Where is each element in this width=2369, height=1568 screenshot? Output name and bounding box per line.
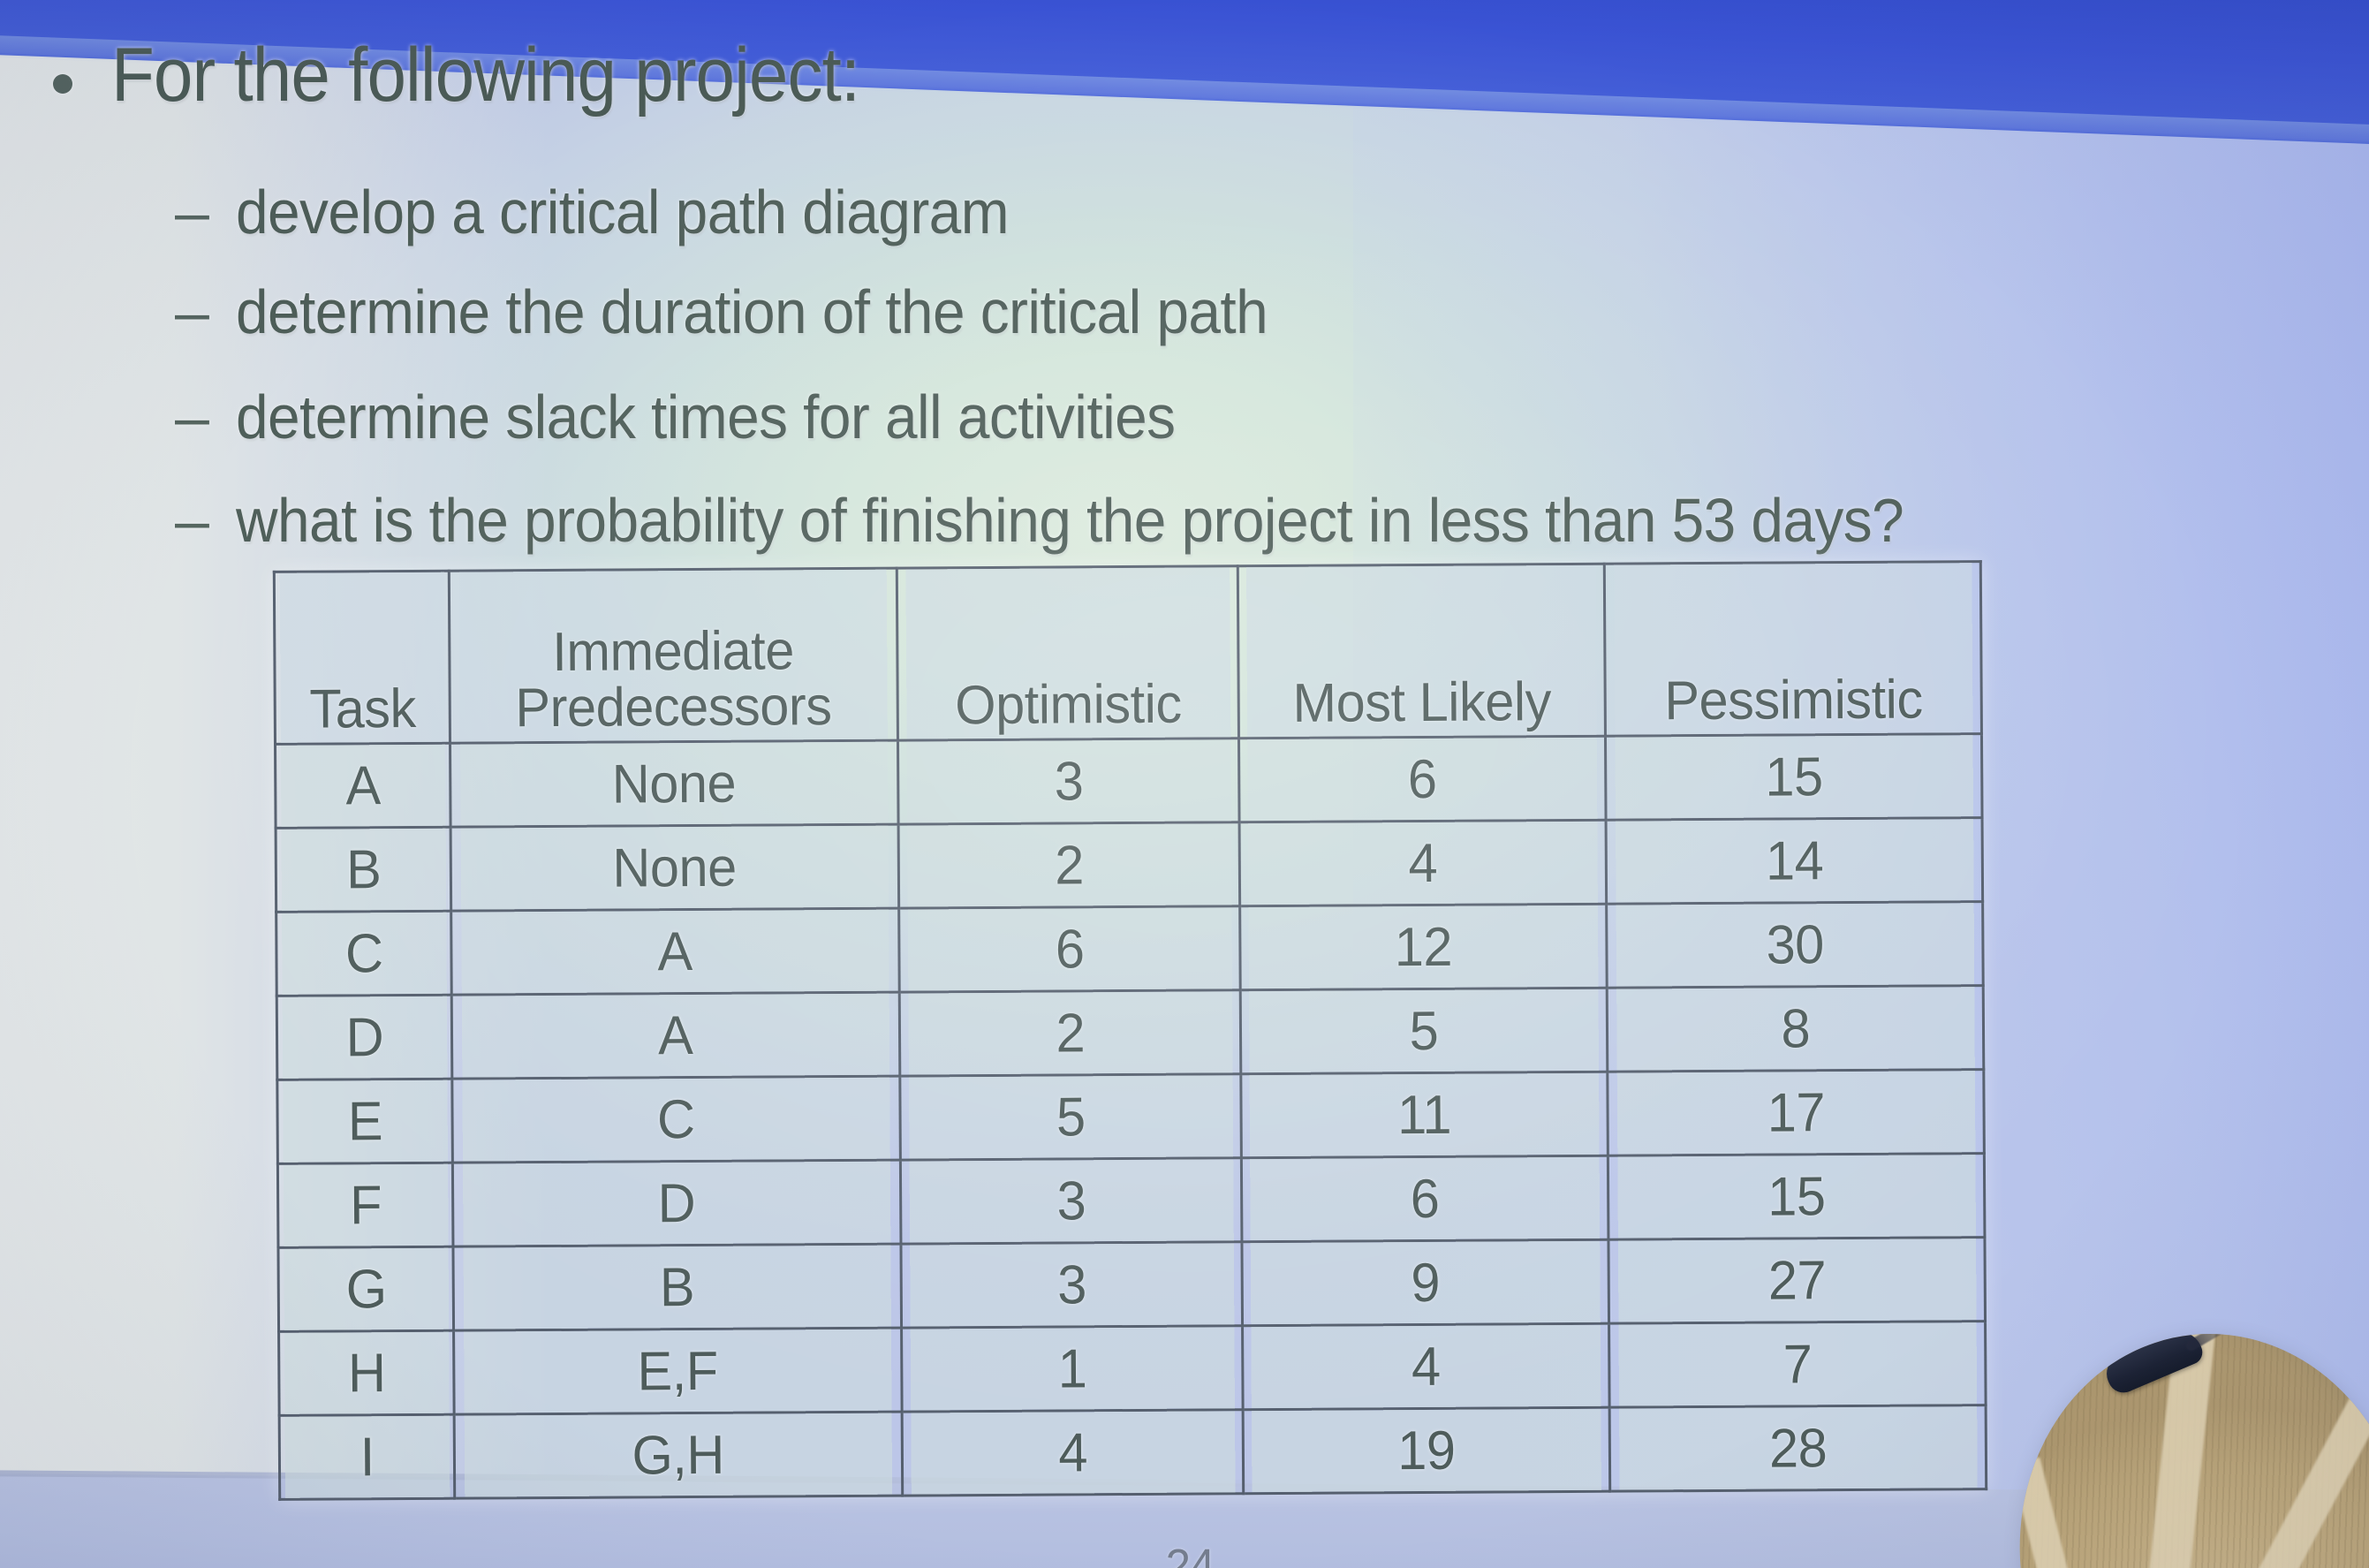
cell-predecessors: D xyxy=(461,1160,892,1246)
cell-pessimistic: 8 xyxy=(1615,986,1976,1072)
table-row: GB3927 xyxy=(278,1238,1986,1332)
table-row: HE,F147 xyxy=(279,1322,1987,1416)
cell-task: I xyxy=(283,1414,450,1499)
cell-pessimistic: 14 xyxy=(1614,818,1975,904)
col-header-predecessors: Immediate Predecessors xyxy=(458,568,889,743)
slide-photo: For the following project: – develop a c… xyxy=(0,0,2369,1568)
cell-predecessors: A xyxy=(460,992,891,1079)
cell-task: F xyxy=(281,1163,449,1247)
sub-bullet-label-3: determine slack times for all activities xyxy=(236,386,1176,448)
table-row: IG,H41928 xyxy=(279,1405,1987,1500)
cell-optimistic: 3 xyxy=(908,1242,1236,1328)
cell-pessimistic: 7 xyxy=(1617,1322,1979,1407)
cell-most-likely: 4 xyxy=(1246,820,1600,905)
table-row: EC51117 xyxy=(277,1070,1985,1164)
main-bullet-item: For the following project: xyxy=(53,37,916,113)
bullet-dot-icon xyxy=(53,74,72,94)
table-header: Task Immediate Predecessors Optimistic M… xyxy=(274,562,1981,745)
sub-bullet-label-4: what is the probability of finishing the… xyxy=(236,489,1904,551)
cell-task: H xyxy=(283,1330,450,1415)
table-row: DA258 xyxy=(276,986,1984,1080)
table-row: CA61230 xyxy=(276,902,1984,996)
cell-pessimistic: 15 xyxy=(1613,734,1974,820)
cell-most-likely: 5 xyxy=(1247,988,1601,1073)
col-header-task-label: Task xyxy=(279,680,444,737)
dash-marker-icon: – xyxy=(175,281,209,343)
cell-most-likely: 19 xyxy=(1250,1407,1603,1493)
sub-bullet-label-2: determine the duration of the critical p… xyxy=(236,281,1268,343)
col-header-most-likely-label: Most Likely xyxy=(1246,674,1597,732)
cell-optimistic: 2 xyxy=(906,990,1234,1076)
cell-predecessors: None xyxy=(459,824,890,911)
table-header-row: Task Immediate Predecessors Optimistic M… xyxy=(274,562,1981,745)
cell-optimistic: 4 xyxy=(909,1410,1237,1496)
dash-marker-icon: – xyxy=(175,386,209,448)
cell-task: G xyxy=(282,1246,450,1331)
cell-optimistic: 3 xyxy=(904,739,1232,824)
cell-task: D xyxy=(280,995,448,1079)
cell-optimistic: 1 xyxy=(908,1326,1236,1412)
project-activity-table: Task Immediate Predecessors Optimistic M… xyxy=(273,560,1987,1501)
cell-pessimistic: 27 xyxy=(1616,1238,1978,1323)
cell-predecessors: B xyxy=(462,1244,893,1330)
col-header-pessimistic-label: Pessimistic xyxy=(1614,671,1972,730)
sub-bullet-item-1: – develop a critical path diagram xyxy=(175,181,1058,243)
table-row: BNone2414 xyxy=(276,818,1983,913)
col-header-most-likely: Most Likely xyxy=(1245,564,1598,738)
cell-task: A xyxy=(278,743,446,828)
cell-most-likely: 11 xyxy=(1248,1072,1601,1157)
slide-page-number: 24 xyxy=(1165,1539,1214,1568)
cell-pessimistic: 15 xyxy=(1616,1154,1977,1239)
cell-task: C xyxy=(280,911,448,996)
sub-bullet-item-3: – determine slack times for all activiti… xyxy=(175,386,1235,448)
cell-pessimistic: 30 xyxy=(1615,902,1976,988)
sub-bullet-item-2: – determine the duration of the critical… xyxy=(175,281,1334,343)
col-header-predecessors-line2: Predecessors xyxy=(459,678,888,736)
dash-marker-icon: – xyxy=(175,489,209,551)
cell-most-likely: 6 xyxy=(1245,736,1599,822)
cell-predecessors: E,F xyxy=(462,1328,893,1414)
col-header-predecessors-line1: Immediate xyxy=(459,622,888,680)
cell-optimistic: 2 xyxy=(905,822,1233,908)
cell-predecessors: G,H xyxy=(463,1412,894,1498)
col-header-optimistic-label: Optimistic xyxy=(905,676,1230,733)
cell-task: E xyxy=(281,1079,449,1163)
sub-bullet-label-1: develop a critical path diagram xyxy=(236,181,1009,243)
main-bullet-label: For the following project: xyxy=(111,37,859,113)
cell-most-likely: 12 xyxy=(1247,904,1601,989)
cell-optimistic: 6 xyxy=(905,906,1233,992)
cell-predecessors: A xyxy=(459,908,890,995)
cell-optimistic: 3 xyxy=(907,1158,1235,1244)
person-hat xyxy=(1998,1314,2369,1568)
col-header-pessimistic: Pessimistic xyxy=(1612,562,1974,736)
table-row: FD3615 xyxy=(277,1154,1985,1248)
cell-pessimistic: 17 xyxy=(1616,1070,1977,1155)
cell-pessimistic: 28 xyxy=(1617,1405,1979,1491)
table-row: ANone3615 xyxy=(276,734,1983,829)
table-body: ANone3615BNone2414CA61230DA258EC51117FD3… xyxy=(276,734,1987,1500)
cell-most-likely: 4 xyxy=(1249,1323,1602,1409)
cell-task: B xyxy=(279,827,447,912)
cell-most-likely: 9 xyxy=(1249,1239,1602,1325)
cell-optimistic: 5 xyxy=(907,1074,1235,1160)
cell-predecessors: C xyxy=(461,1076,892,1163)
sub-bullet-item-4: – what is the probability of finishing t… xyxy=(175,489,2010,551)
col-header-task: Task xyxy=(277,571,446,744)
col-header-optimistic: Optimistic xyxy=(904,566,1231,740)
cell-most-likely: 6 xyxy=(1248,1155,1601,1241)
cell-predecessors: None xyxy=(458,740,889,827)
dash-marker-icon: – xyxy=(175,181,209,243)
